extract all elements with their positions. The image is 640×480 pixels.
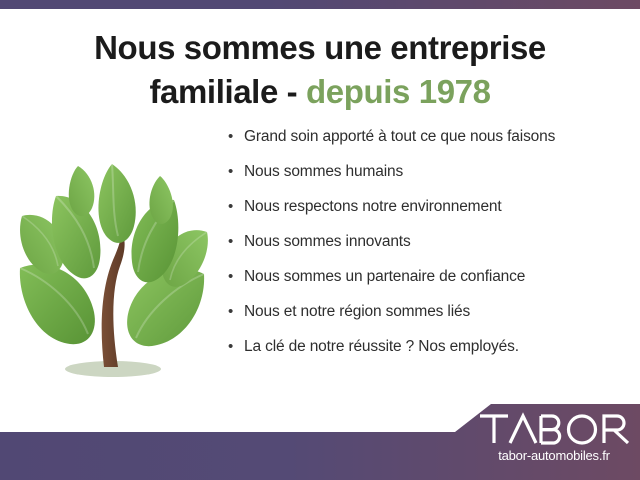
page-title-line-2-prefix: familiale - bbox=[149, 73, 306, 110]
bullet-marker-icon: • bbox=[228, 231, 244, 253]
green-tree-illustration bbox=[8, 152, 223, 387]
page-title-line-1: Nous sommes une entreprise bbox=[94, 29, 546, 66]
list-item-label: Nous et notre région sommes liés bbox=[244, 301, 470, 323]
list-item: • Grand soin apporté à tout ce que nous … bbox=[228, 126, 628, 161]
brand-website-label: tabor-automobiles.fr bbox=[478, 448, 630, 464]
top-accent-strip bbox=[0, 0, 640, 9]
list-item-label: Nous sommes un partenaire de confiance bbox=[244, 266, 525, 288]
list-item-label: Nous sommes innovants bbox=[244, 231, 411, 253]
tree-trunk bbox=[102, 230, 125, 367]
leaf-small-left-top bbox=[69, 166, 95, 216]
list-item: • Nous sommes innovants bbox=[228, 231, 628, 266]
list-item-label: Nous respectons notre environnement bbox=[244, 196, 502, 218]
slide-canvas: Nous sommes une entreprise familiale - d… bbox=[0, 0, 640, 480]
list-item: • Nous sommes humains bbox=[228, 161, 628, 196]
list-item-label: Grand soin apporté à tout ce que nous fa… bbox=[244, 126, 555, 148]
list-item: • Nous respectons notre environnement bbox=[228, 196, 628, 231]
page-title-line-2: familiale - depuis 1978 bbox=[0, 70, 640, 114]
list-item-label: La clé de notre réussite ? Nos employés. bbox=[244, 336, 519, 358]
list-item: • Nous et notre région sommes liés bbox=[228, 301, 628, 336]
page-title-accent: depuis 1978 bbox=[306, 73, 491, 110]
leaf-small-right-top bbox=[149, 176, 172, 224]
brand-wordmark-tabor bbox=[478, 412, 630, 446]
page-title: Nous sommes une entreprise familiale - d… bbox=[0, 26, 640, 114]
bullet-marker-icon: • bbox=[228, 161, 244, 183]
list-item: • La clé de notre réussite ? Nos employé… bbox=[228, 336, 628, 371]
bullet-marker-icon: • bbox=[228, 196, 244, 218]
brand-logo[interactable]: tabor-automobiles.fr bbox=[478, 412, 630, 464]
list-item: • Nous sommes un partenaire de confiance bbox=[228, 266, 628, 301]
leaf-center-top bbox=[98, 164, 135, 243]
benefits-list: • Grand soin apporté à tout ce que nous … bbox=[228, 126, 628, 371]
bullet-marker-icon: • bbox=[228, 126, 244, 148]
bullet-marker-icon: • bbox=[228, 301, 244, 323]
bullet-marker-icon: • bbox=[228, 266, 244, 288]
bullet-marker-icon: • bbox=[228, 336, 244, 358]
list-item-label: Nous sommes humains bbox=[244, 161, 403, 183]
